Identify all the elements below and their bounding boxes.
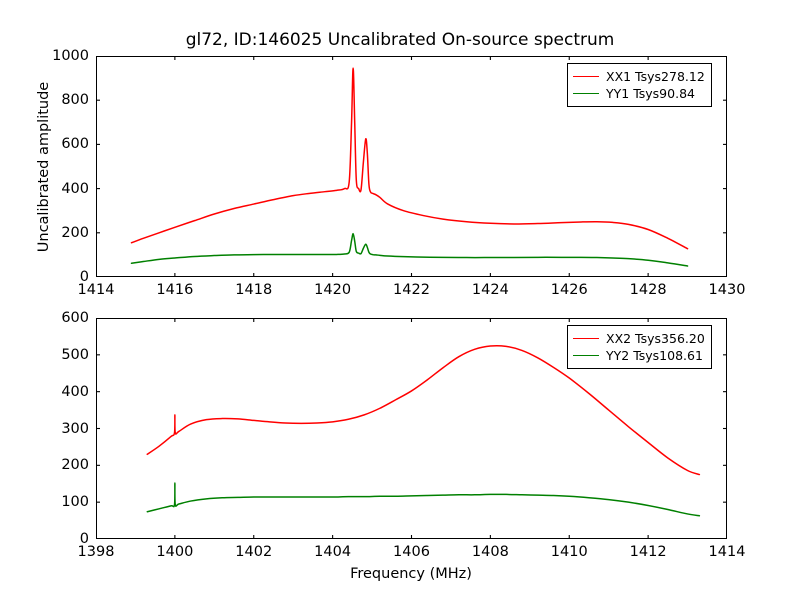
- y-tick-label: 300: [0, 421, 89, 437]
- legend-entry: YY2 Tsys108.61: [573, 347, 705, 364]
- legend-label: XX2 Tsys356.20: [606, 330, 705, 347]
- top-y-axis-label: Uncalibrated amplitude: [36, 82, 52, 252]
- legend-label: YY2 Tsys108.61: [606, 347, 703, 364]
- bottom-legend: XX2 Tsys356.20YY2 Tsys108.61: [567, 325, 712, 369]
- legend-line-icon: [573, 355, 599, 356]
- x-tick-label: 1418: [235, 282, 272, 298]
- bottom-x-axis-label: Frequency (MHz): [350, 566, 472, 582]
- y-tick-label: 400: [0, 384, 89, 400]
- y-tick-label: 0: [0, 531, 89, 547]
- x-tick-label: 1416: [156, 282, 193, 298]
- y-tick-label: 200: [0, 457, 89, 473]
- x-tick-label: 1408: [472, 544, 509, 560]
- x-tick-label: 1404: [314, 544, 351, 560]
- x-tick-label: 1402: [235, 544, 272, 560]
- y-tick-label: 600: [0, 310, 89, 326]
- x-tick-label: 1414: [709, 544, 746, 560]
- x-tick-label: 1406: [393, 544, 430, 560]
- x-tick-label: 1422: [393, 282, 430, 298]
- spectrum-curve: [131, 234, 687, 266]
- x-tick-label: 1420: [314, 282, 351, 298]
- spectrum-figure: gl72, ID:146025 Uncalibrated On-source s…: [0, 0, 800, 600]
- y-tick-label: 100: [0, 494, 89, 510]
- y-tick-label: 500: [0, 347, 89, 363]
- legend-line-icon: [573, 76, 599, 77]
- x-tick-label: 1428: [630, 282, 667, 298]
- legend-line-icon: [573, 93, 599, 94]
- x-tick-label: 1400: [156, 544, 193, 560]
- figure-title: gl72, ID:146025 Uncalibrated On-source s…: [0, 30, 800, 50]
- x-tick-label: 1424: [472, 282, 509, 298]
- y-tick-label: 0: [0, 269, 89, 285]
- y-tick-label: 1000: [0, 48, 89, 64]
- x-tick-label: 1430: [709, 282, 746, 298]
- spectrum-curve: [147, 483, 699, 516]
- legend-line-icon: [573, 338, 599, 339]
- legend-entry: XX2 Tsys356.20: [573, 330, 705, 347]
- legend-entry: YY1 Tsys90.84: [573, 85, 705, 102]
- top-legend: XX1 Tsys278.12YY1 Tsys90.84: [567, 63, 712, 107]
- x-tick-label: 1426: [551, 282, 588, 298]
- x-tick-label: 1410: [551, 544, 588, 560]
- x-tick-label: 1412: [630, 544, 667, 560]
- legend-label: XX1 Tsys278.12: [606, 68, 705, 85]
- legend-entry: XX1 Tsys278.12: [573, 68, 705, 85]
- legend-label: YY1 Tsys90.84: [606, 85, 695, 102]
